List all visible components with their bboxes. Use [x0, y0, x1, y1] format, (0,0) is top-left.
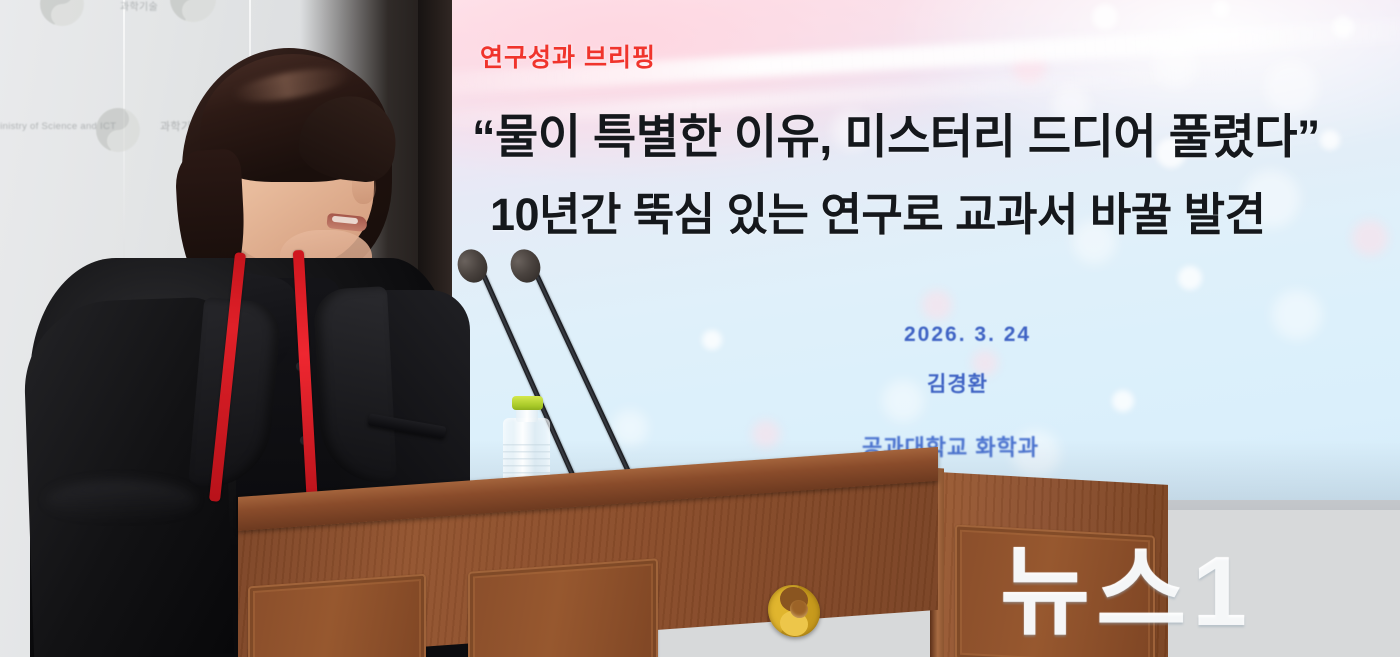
- slide-title: “물이 특별한 이유, 미스터리 드디어 풀렸다”: [472, 98, 1320, 167]
- slide-presenter-name: 김경환: [927, 368, 988, 398]
- presentation-screen: 연구성과 브리핑 “물이 특별한 이유, 미스터리 드디어 풀렸다” 10년간 …: [452, 0, 1400, 500]
- slide-subtitle: 10년간 뚝심 있는 연구로 교과서 바꿀 발견: [490, 178, 1265, 243]
- podium-panel: [468, 558, 658, 657]
- slide-kicker: 연구성과 브리핑: [480, 38, 656, 74]
- news-photo: Ministry of Science and ICT 과학기술 과학기술 연구…: [0, 0, 1400, 657]
- podium-panel: [955, 524, 1155, 657]
- sleeve-fold: [46, 480, 196, 520]
- slide-date: 2026. 3. 24: [904, 323, 1031, 347]
- taegeuk-emblem-inner: [790, 599, 808, 618]
- podium-panel: [248, 574, 426, 657]
- bottle-cap: [512, 396, 543, 410]
